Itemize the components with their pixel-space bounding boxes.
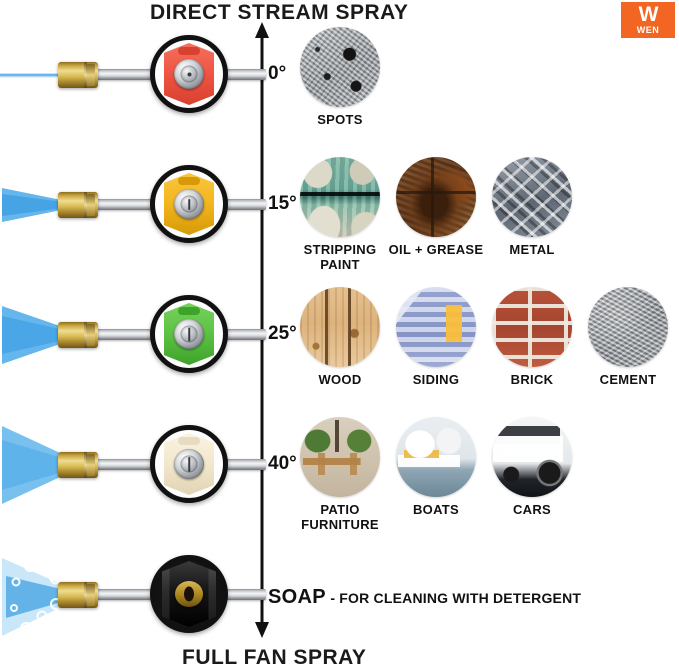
nozzle-hub-inner-40 — [181, 456, 198, 473]
use-label-spots: SPOTS — [317, 113, 363, 128]
use-label-boats: BOATS — [413, 503, 459, 518]
nozzle-row-soap: SOAP - FOR CLEANING WITH DETERGENT — [0, 542, 262, 652]
use-cell-wood[interactable]: WOOD — [292, 287, 388, 388]
nozzle-orifice-40 — [188, 457, 191, 472]
nozzle-hub-inner-15 — [181, 196, 198, 213]
nozzle-assembly-40 — [0, 412, 262, 522]
use-label-siding: SIDING — [413, 373, 460, 388]
use-swatch-cement — [588, 287, 668, 367]
nozzle-row-40: 40° — [0, 412, 262, 522]
use-label-oil-grease: OIL + GREASE — [389, 243, 484, 258]
use-group-0: SPOTS — [292, 27, 388, 128]
use-cell-spots[interactable]: SPOTS — [292, 27, 388, 128]
wen-w-mark: W — [639, 4, 658, 25]
nozzle-tab-25 — [178, 307, 200, 315]
brass-coupler-25 — [58, 322, 98, 348]
nozzle-row-0: 0° — [0, 22, 262, 132]
use-cell-boats[interactable]: BOATS — [388, 417, 484, 518]
nozzle-assembly-25 — [0, 282, 262, 392]
use-swatch-oil-grease — [396, 157, 476, 237]
wen-wordmark: WEN — [637, 26, 660, 35]
use-label-cars: CARS — [513, 503, 551, 518]
nozzle-hub-inner-0 — [181, 66, 198, 83]
use-label-cement: CEMENT — [600, 373, 657, 388]
use-label-metal: METAL — [509, 243, 554, 258]
nozzle-hub-inner-25 — [181, 326, 198, 343]
use-swatch-cars — [492, 417, 572, 497]
use-swatch-stripping-paint — [300, 157, 380, 237]
use-swatch-wood — [300, 287, 380, 367]
nozzle-soap-ring — [175, 581, 203, 607]
use-swatch-patio-furniture — [300, 417, 380, 497]
nozzle-head-0[interactable] — [150, 35, 228, 113]
nozzle-head-15[interactable] — [150, 165, 228, 243]
brass-coupler-0 — [58, 62, 98, 88]
use-cell-metal[interactable]: METAL — [484, 157, 580, 258]
nozzle-head-soap[interactable] — [150, 555, 228, 633]
use-cell-cars[interactable]: CARS — [484, 417, 580, 518]
nozzle-row-25: 25° — [0, 282, 262, 392]
use-swatch-boats — [396, 417, 476, 497]
infographic-canvas: DIRECT STREAM SPRAY FULL FAN SPRAY W WEN — [0, 0, 679, 669]
nozzle-tab-40 — [178, 437, 200, 445]
nozzle-orifice-15 — [188, 199, 191, 210]
brass-coupler-soap — [58, 582, 98, 608]
use-cell-brick[interactable]: BRICK — [484, 287, 580, 388]
use-cell-oil-grease[interactable]: OIL + GREASE — [388, 157, 484, 258]
use-swatch-metal — [492, 157, 572, 237]
nozzle-tab-0 — [178, 47, 200, 55]
use-cell-siding[interactable]: SIDING — [388, 287, 484, 388]
use-group-15: STRIPPING PAINT OIL + GREASE METAL — [292, 157, 580, 273]
nozzle-assembly-soap — [0, 542, 262, 652]
use-group-25: WOOD SIDING BRICK CEMENT — [292, 287, 676, 388]
use-label-wood: WOOD — [318, 373, 361, 388]
soap-label-text: SOAP — [268, 586, 326, 608]
nozzle-head-40[interactable] — [150, 425, 228, 503]
nozzle-orifice-0 — [187, 72, 191, 76]
use-label-stripping-paint: STRIPPING PAINT — [292, 243, 388, 273]
nozzle-assembly-0 — [0, 22, 262, 132]
nozzle-hub-25 — [174, 319, 204, 349]
use-swatch-brick — [492, 287, 572, 367]
brass-coupler-40 — [58, 452, 98, 478]
use-label-patio-furniture: PATIO FURNITURE — [292, 503, 388, 533]
wen-logo: W WEN — [621, 2, 675, 38]
use-cell-patio-furniture[interactable]: PATIO FURNITURE — [292, 417, 388, 533]
use-group-40: PATIO FURNITURE BOATS CARS — [292, 417, 580, 533]
nozzle-hub-40 — [174, 449, 204, 479]
soap-label-note: - FOR CLEANING WITH DETERGENT — [330, 590, 581, 606]
use-cell-cement[interactable]: CEMENT — [580, 287, 676, 388]
nozzle-tab-15 — [178, 177, 200, 185]
nozzle-hub-15 — [174, 189, 204, 219]
use-swatch-spots — [300, 27, 380, 107]
angle-label-0: 0° — [268, 63, 286, 85]
use-cell-stripping-paint[interactable]: STRIPPING PAINT — [292, 157, 388, 273]
brass-coupler-15 — [58, 192, 98, 218]
angle-label-soap: SOAP - FOR CLEANING WITH DETERGENT — [268, 586, 581, 609]
nozzle-assembly-15 — [0, 152, 262, 262]
use-label-brick: BRICK — [511, 373, 554, 388]
use-swatch-siding — [396, 287, 476, 367]
nozzle-head-25[interactable] — [150, 295, 228, 373]
nozzle-orifice-25 — [188, 327, 191, 341]
nozzle-row-15: 15° — [0, 152, 262, 262]
nozzle-hub-0 — [174, 59, 204, 89]
